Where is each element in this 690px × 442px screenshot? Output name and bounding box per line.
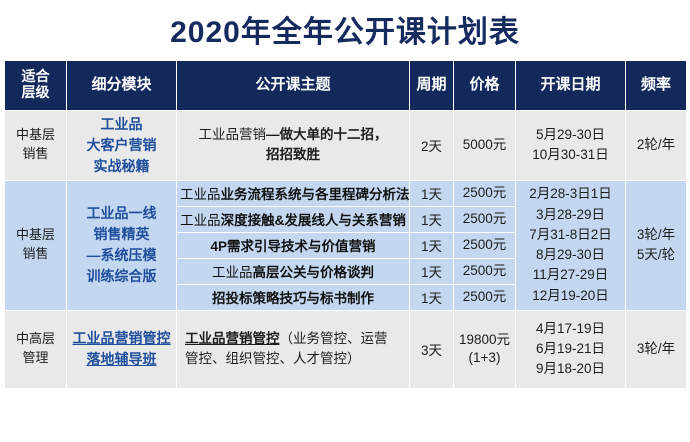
topic-bold: 招投标策略技巧与标书制作 bbox=[212, 291, 374, 306]
cell-date: 2月28-3日1日 3月28-29日 7月31-8日2日 8月29-30日 11… bbox=[516, 180, 626, 310]
topic-line1: 工业品营销—做大单的十二招， bbox=[180, 125, 406, 145]
module-line2: 销售精英 bbox=[70, 224, 173, 245]
column-header-duration: 周期 bbox=[410, 60, 454, 110]
cell-frequency: 3轮/年 bbox=[626, 310, 687, 388]
header-row: 适合 层级 细分模块 公开课主题 周期 价格 开课日期 频率 bbox=[5, 60, 687, 110]
topic-bold: 深度接触&发展线人与关系营销 bbox=[221, 213, 406, 228]
topic-bold: 4P需求引导技术与价值营销 bbox=[210, 239, 375, 254]
level-line1: 中基层 bbox=[8, 226, 63, 245]
column-header-level-line2: 层级 bbox=[8, 85, 63, 101]
cell-module: 工业品营销管控 落地辅导班 bbox=[67, 310, 177, 388]
level-line2: 销售 bbox=[8, 245, 63, 264]
topic-bold: 业务流程系统与各里程碑分析法 bbox=[221, 187, 410, 202]
cell-price: 2500元 bbox=[454, 284, 516, 310]
date-line: 11月27-29日 bbox=[519, 265, 622, 285]
cell-topic: 工业品高层公关与价格谈判 bbox=[177, 258, 410, 284]
topic-bold: 高层公关与价格谈判 bbox=[253, 265, 375, 280]
cell-topic: 工业品营销管控（业务管控、运营 管控、组织管控、人才管控） bbox=[177, 310, 410, 388]
date-line: 9月18-20日 bbox=[519, 359, 622, 379]
topic-lead: 工业品 bbox=[180, 213, 221, 228]
date-line: 7月31-8日2日 bbox=[519, 225, 622, 245]
module-line1: 工业品营销管控 bbox=[70, 328, 173, 349]
topic-bold: —做大单的十二招， bbox=[266, 127, 388, 142]
date-line: 4月17-19日 bbox=[519, 319, 622, 339]
cell-price: 2500元 bbox=[454, 180, 516, 206]
level-line1: 中高层 bbox=[8, 330, 63, 349]
column-header-frequency: 频率 bbox=[626, 60, 687, 110]
topic-line1: 工业品营销管控（业务管控、运营 bbox=[185, 329, 406, 349]
module-line3: —系统压模 bbox=[70, 245, 173, 266]
cell-module: 工业品 大客户营销 实战秘籍 bbox=[67, 110, 177, 180]
cell-topic: 招投标策略技巧与标书制作 bbox=[177, 284, 410, 310]
cell-duration: 3天 bbox=[410, 310, 454, 388]
cell-date: 4月17-19日 6月19-21日 9月18-20日 bbox=[516, 310, 626, 388]
cell-topic: 工业品业务流程系统与各里程碑分析法 bbox=[177, 180, 410, 206]
date-line: 2月28-3日1日 bbox=[519, 184, 622, 204]
column-header-module: 细分模块 bbox=[67, 60, 177, 110]
topic-line2: 管控、组织管控、人才管控） bbox=[185, 349, 406, 369]
price-line2: (1+3) bbox=[457, 349, 512, 367]
table-row: 中基层 销售 工业品 大客户营销 实战秘籍 工业品营销—做大单的十二招， 招招致… bbox=[5, 110, 687, 180]
module-line2: 大客户营销 bbox=[70, 135, 173, 156]
topic-line2: 招招致胜 bbox=[180, 145, 406, 165]
date-line: 12月19-20日 bbox=[519, 286, 622, 306]
column-header-topic: 公开课主题 bbox=[177, 60, 410, 110]
cell-price: 2500元 bbox=[454, 258, 516, 284]
level-line2: 管理 bbox=[8, 349, 63, 368]
topic-lead: 工业品 bbox=[212, 265, 253, 280]
level-line2: 销售 bbox=[8, 145, 63, 164]
page-title: 2020年全年公开课计划表 bbox=[0, 0, 690, 52]
cell-module: 工业品一线 销售精英 —系统压模 训练综合版 bbox=[67, 180, 177, 310]
module-line1: 工业品 bbox=[70, 114, 173, 135]
cell-level: 中基层 销售 bbox=[5, 110, 67, 180]
frequency-line: 5天/轮 bbox=[629, 245, 683, 265]
cell-price: 2500元 bbox=[454, 206, 516, 232]
cell-topic: 4P需求引导技术与价值营销 bbox=[177, 232, 410, 258]
level-line1: 中基层 bbox=[8, 126, 63, 145]
cell-level: 中高层 管理 bbox=[5, 310, 67, 388]
topic-lead: 工业品营销 bbox=[199, 127, 267, 142]
topic-lead: 工业品 bbox=[180, 187, 221, 202]
table-row: 中基层 销售 工业品一线 销售精英 —系统压模 训练综合版 工业品业务流程系统与… bbox=[5, 180, 687, 206]
cell-duration: 1天 bbox=[410, 180, 454, 206]
cell-price: 2500元 bbox=[454, 232, 516, 258]
cell-price: 5000元 bbox=[454, 110, 516, 180]
topic-bold: 工业品营销管控 bbox=[185, 331, 280, 346]
table-row: 中高层 管理 工业品营销管控 落地辅导班 工业品营销管控（业务管控、运营 管控、… bbox=[5, 310, 687, 388]
column-header-date: 开课日期 bbox=[516, 60, 626, 110]
date-line: 10月30-31日 bbox=[519, 145, 622, 165]
cell-price: 19800元 (1+3) bbox=[454, 310, 516, 388]
course-schedule-table: 适合 层级 细分模块 公开课主题 周期 价格 开课日期 频率 中基层 销售 bbox=[4, 60, 687, 389]
cell-topic: 工业品深度接触&发展线人与关系营销 bbox=[177, 206, 410, 232]
module-line4: 训练综合版 bbox=[70, 266, 173, 287]
table-header: 适合 层级 细分模块 公开课主题 周期 价格 开课日期 频率 bbox=[5, 60, 687, 110]
column-header-level-line1: 适合 bbox=[8, 69, 63, 85]
module-line1: 工业品一线 bbox=[70, 203, 173, 224]
date-line: 3月28-29日 bbox=[519, 205, 622, 225]
date-line: 6月19-21日 bbox=[519, 339, 622, 359]
cell-duration: 1天 bbox=[410, 284, 454, 310]
cell-topic: 工业品营销—做大单的十二招， 招招致胜 bbox=[177, 110, 410, 180]
cell-date: 5月29-30日 10月30-31日 bbox=[516, 110, 626, 180]
date-line: 5月29-30日 bbox=[519, 125, 622, 145]
date-line: 8月29-30日 bbox=[519, 245, 622, 265]
topic-rest: （业务管控、运营 bbox=[280, 331, 388, 346]
column-header-price: 价格 bbox=[454, 60, 516, 110]
cell-level: 中基层 销售 bbox=[5, 180, 67, 310]
cell-duration: 1天 bbox=[410, 258, 454, 284]
table-body: 中基层 销售 工业品 大客户营销 实战秘籍 工业品营销—做大单的十二招， 招招致… bbox=[5, 110, 687, 388]
module-line3: 实战秘籍 bbox=[70, 156, 173, 177]
module-line2: 落地辅导班 bbox=[70, 349, 173, 370]
frequency-line: 3轮/年 bbox=[629, 225, 683, 245]
cell-frequency: 3轮/年 5天/轮 bbox=[626, 180, 687, 310]
column-header-level: 适合 层级 bbox=[5, 60, 67, 110]
table-container: 适合 层级 细分模块 公开课主题 周期 价格 开课日期 频率 中基层 销售 bbox=[0, 60, 690, 389]
course-schedule-page: 2020年全年公开课计划表 适合 层级 细分模块 公开课主题 周期 价格 开课日… bbox=[0, 0, 690, 442]
cell-duration: 2天 bbox=[410, 110, 454, 180]
cell-duration: 1天 bbox=[410, 206, 454, 232]
cell-frequency: 2轮/年 bbox=[626, 110, 687, 180]
cell-duration: 1天 bbox=[410, 232, 454, 258]
price-line1: 19800元 bbox=[457, 331, 512, 349]
